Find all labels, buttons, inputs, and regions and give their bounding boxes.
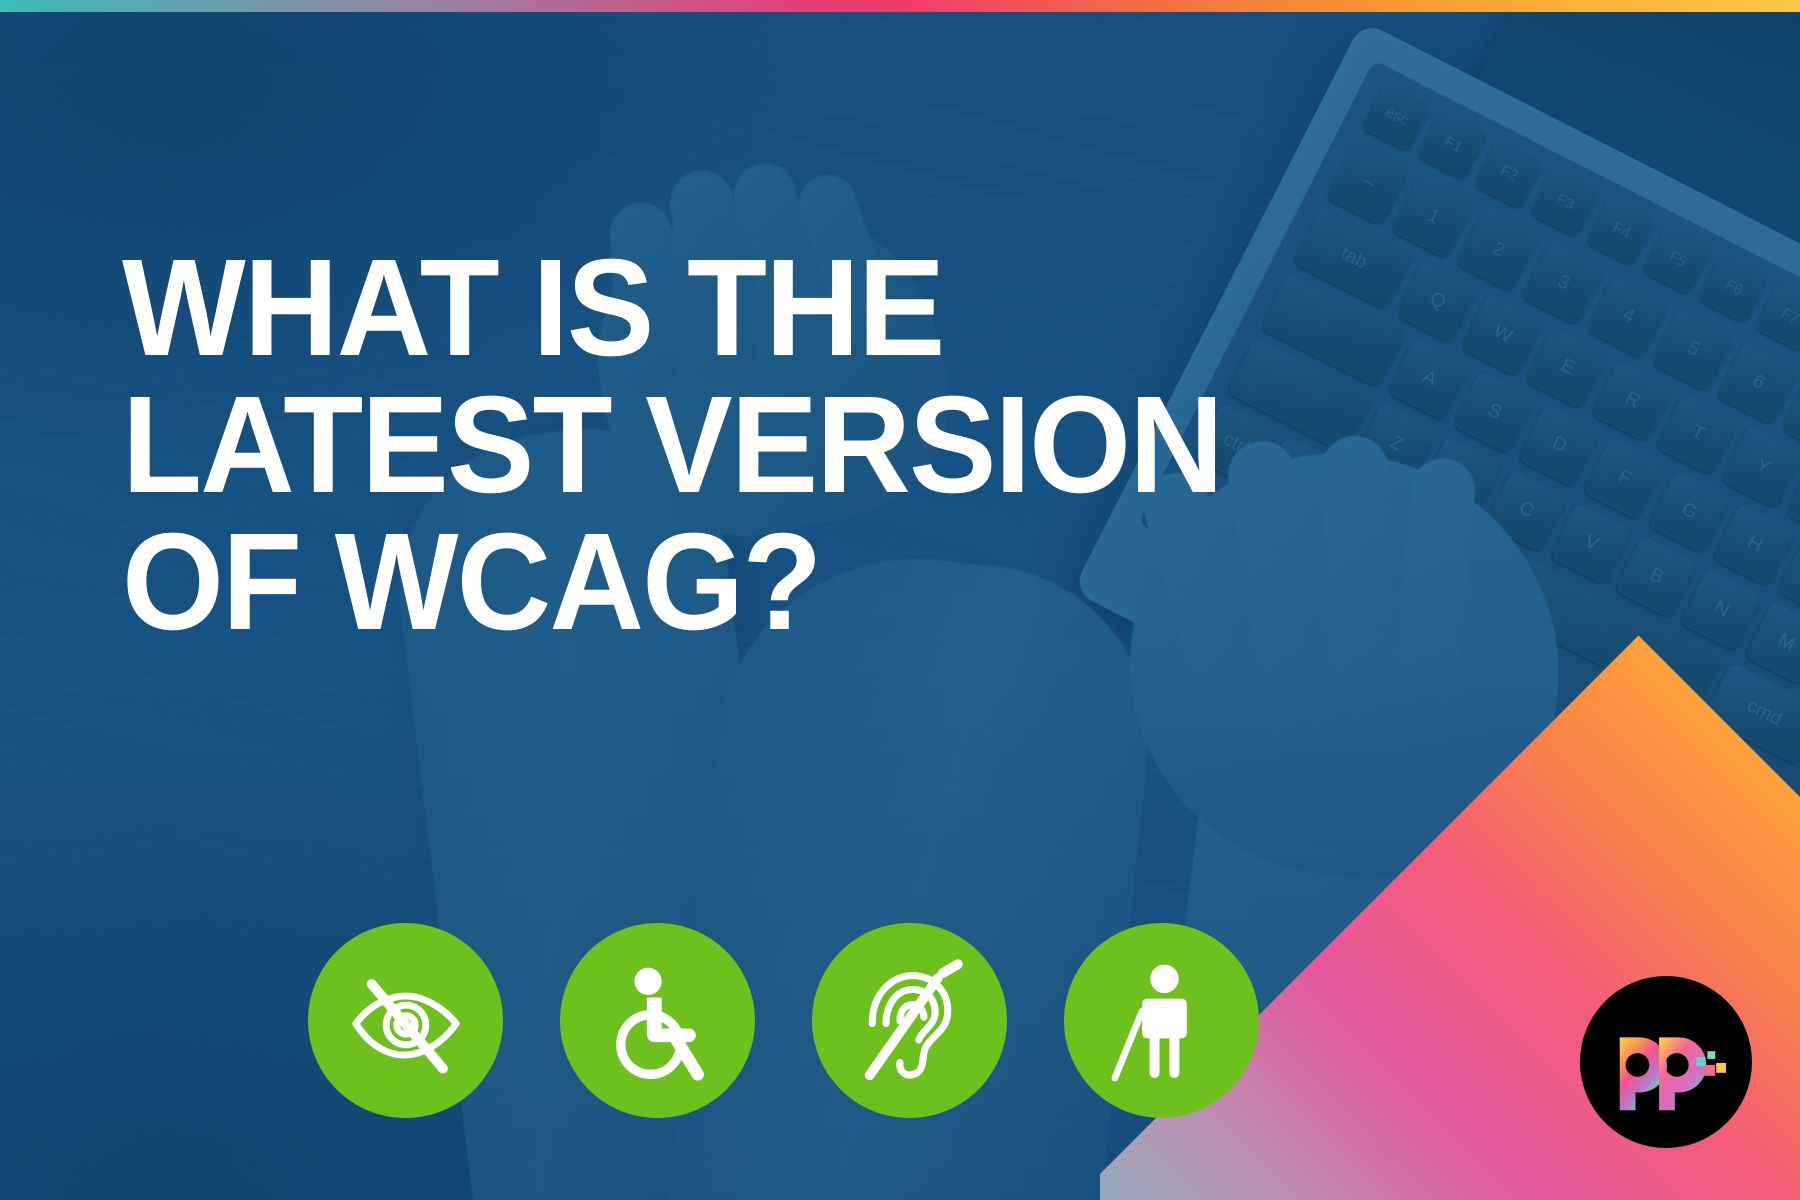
headline-line-3: of WCAG? (122, 514, 1471, 651)
wheelchair-icon-badge (560, 923, 755, 1118)
eye-slash-icon (340, 955, 472, 1087)
accessibility-icon-row (308, 923, 1259, 1118)
headline-line-1: What is the (122, 240, 1471, 377)
white-cane-icon-badge (1064, 923, 1259, 1118)
graphic-canvas: esc F1 F2 F3 F4 F5 F6 F7 F8 F9 F10 F11 (0, 0, 1800, 1200)
brand-logo[interactable] (1580, 976, 1752, 1148)
page-title: What is the latest version of WCAG? (122, 240, 1542, 650)
top-gradient-bar (0, 0, 1800, 12)
headline-line-2: latest version (122, 377, 1471, 514)
eye-slash-icon-badge (308, 923, 503, 1118)
ear-slash-icon-badge (812, 923, 1007, 1118)
white-cane-icon (1100, 959, 1224, 1083)
brand-logo-mark (1602, 998, 1730, 1126)
ear-slash-icon (847, 958, 973, 1084)
wheelchair-icon (596, 959, 720, 1083)
